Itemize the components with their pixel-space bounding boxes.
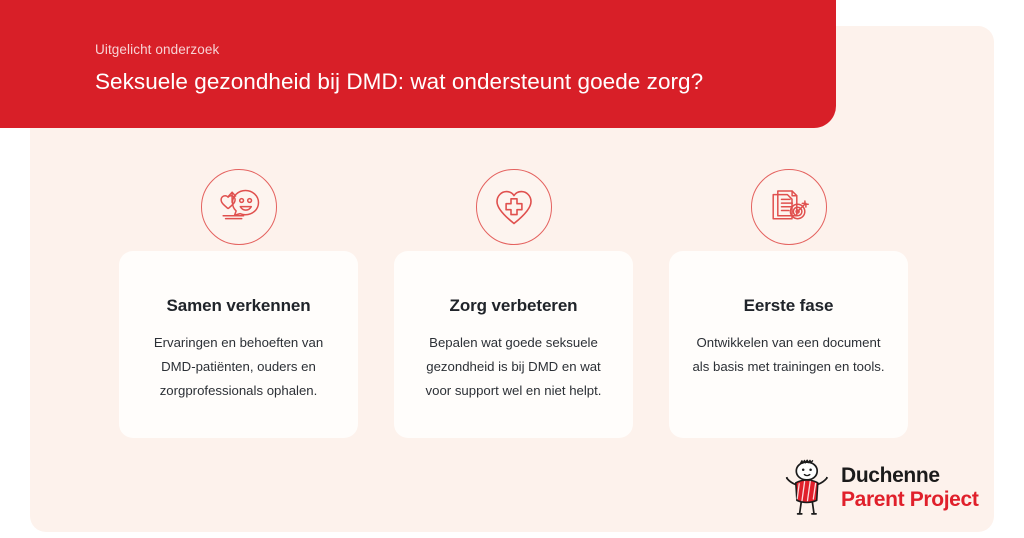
brand-logo: Duchenne Parent Project [782,459,979,515]
card-body: Bepalen wat goede seksuele gezondheid is… [416,331,611,403]
card-title: Zorg verbeteren [416,295,611,317]
logo-line-duchenne: Duchenne [841,465,979,486]
logo-line-parent-project: Parent Project [841,489,979,510]
duchenne-child-figure-icon [782,459,832,515]
logo-wordmark: Duchenne Parent Project [841,465,979,510]
heart-medical-cross-icon [476,169,552,245]
card-title: Samen verkennen [141,295,336,317]
header-text-group: Uitgelicht onderzoek Seksuele gezondheid… [95,41,796,97]
page-title: Seksuele gezondheid bij DMD: wat onderst… [95,67,796,97]
header-eyebrow: Uitgelicht onderzoek [95,41,796,59]
card-samen-verkennen: Samen verkennen Ervaringen en behoeften … [119,251,358,438]
card-zorg-verbeteren: Zorg verbeteren Bepalen wat goede seksue… [394,251,633,438]
card-body: Ervaringen en behoeften van DMD-patiënte… [141,331,336,403]
card-eerste-fase: Eerste fase Ontwikkelen van een document… [669,251,908,438]
card-row: Samen verkennen Ervaringen en behoeften … [119,251,908,438]
header-banner: Uitgelicht onderzoek Seksuele gezondheid… [0,0,836,128]
documents-target-arrow-icon [751,169,827,245]
speech-bubble-smiley-heart-icon [201,169,277,245]
card-body: Ontwikkelen van een document als basis m… [691,331,886,379]
infographic-canvas: Uitgelicht onderzoek Seksuele gezondheid… [0,0,1024,538]
card-title: Eerste fase [691,295,886,317]
